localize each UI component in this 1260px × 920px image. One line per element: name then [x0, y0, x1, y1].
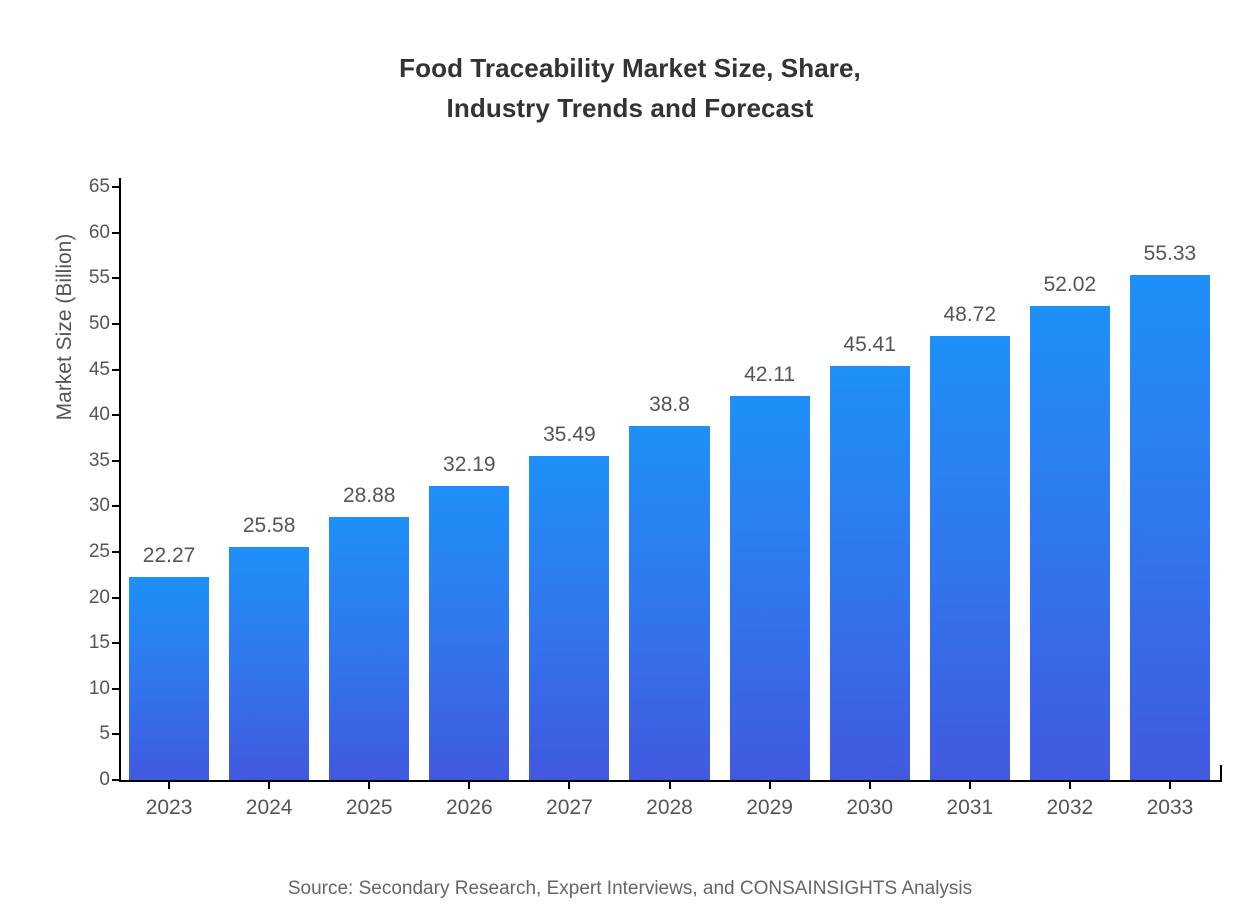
bar[interactable]: [529, 456, 609, 780]
y-axis-tick-label: 15: [50, 633, 110, 652]
bar-value-label: 48.72: [900, 303, 1040, 327]
y-axis-tick-label: 35: [50, 451, 110, 470]
y-axis-tick: [112, 323, 121, 325]
bar[interactable]: [129, 577, 209, 780]
y-axis-tick: [112, 232, 121, 234]
y-axis-tick-label: 30: [50, 496, 110, 515]
x-axis-tick: [969, 780, 971, 789]
chart-figure: Food Traceability Market Size, Share, In…: [0, 0, 1260, 920]
x-axis-tick-label: 2030: [815, 796, 925, 820]
bar-value-label: 32.19: [399, 453, 539, 477]
bar-value-label: 42.11: [700, 363, 840, 387]
y-axis-tick: [112, 186, 121, 188]
x-axis-tick-label: 2033: [1115, 796, 1225, 820]
x-axis-tick: [669, 780, 671, 789]
bar[interactable]: [629, 426, 709, 780]
x-axis-spine: [119, 780, 1222, 782]
bar-value-label: 38.8: [600, 393, 740, 417]
x-axis-tick: [869, 780, 871, 789]
y-axis-tick-label: 10: [50, 679, 110, 698]
x-axis-tick-label: 2025: [314, 796, 424, 820]
x-axis-tick: [769, 780, 771, 789]
bar-value-label: 22.27: [99, 544, 239, 568]
chart-title-line-2: Industry Trends and Forecast: [0, 88, 1260, 128]
bar-value-label: 45.41: [800, 333, 940, 357]
x-axis-tick-label: 2029: [715, 796, 825, 820]
y-axis-tick: [112, 642, 121, 644]
x-axis-tick: [1169, 780, 1171, 789]
x-axis-tick: [268, 780, 270, 789]
y-axis-tick-label: 5: [50, 724, 110, 743]
bar-value-label: 55.33: [1100, 242, 1240, 266]
y-axis-tick-label: 20: [50, 588, 110, 607]
bar-value-label: 25.58: [199, 514, 339, 538]
y-axis-tick-label: 55: [50, 268, 110, 287]
y-axis-tick: [112, 277, 121, 279]
x-axis-tick-label: 2031: [915, 796, 1025, 820]
bar[interactable]: [830, 366, 910, 780]
y-axis-tick: [112, 369, 121, 371]
y-axis-tick: [112, 505, 121, 507]
y-axis-tick: [112, 597, 121, 599]
y-axis-tick: [112, 414, 121, 416]
bar[interactable]: [930, 336, 1010, 780]
x-axis-tick-label: 2026: [414, 796, 524, 820]
x-axis-tick: [568, 780, 570, 789]
x-axis-tick-label: 2028: [615, 796, 725, 820]
source-note: Source: Secondary Research, Expert Inter…: [0, 878, 1260, 900]
x-axis-tick: [1069, 780, 1071, 789]
bar[interactable]: [730, 396, 810, 780]
bar[interactable]: [229, 547, 309, 780]
x-axis-tick: [368, 780, 370, 789]
x-axis-tick-label: 2023: [114, 796, 224, 820]
y-axis-tick-label: 60: [50, 223, 110, 242]
y-axis-tick: [112, 733, 121, 735]
plot-area: 0510152025303540455055606522.27202325.58…: [121, 178, 1222, 780]
y-axis-tick: [112, 779, 121, 781]
bar-value-label: 35.49: [499, 423, 639, 447]
y-axis-tick-label: 50: [50, 314, 110, 333]
y-axis-tick: [112, 688, 121, 690]
x-axis-tick: [468, 780, 470, 789]
bar[interactable]: [1130, 275, 1210, 780]
chart-title-line-1: Food Traceability Market Size, Share,: [0, 48, 1260, 88]
y-axis-tick-label: 0: [50, 770, 110, 789]
bar[interactable]: [429, 486, 509, 780]
x-axis-tick-label: 2032: [1015, 796, 1125, 820]
y-axis-tick-label: 65: [50, 177, 110, 196]
y-axis-tick: [112, 460, 121, 462]
x-axis-tick: [168, 780, 170, 789]
chart-title: Food Traceability Market Size, Share, In…: [0, 48, 1260, 128]
x-axis-tick-label: 2024: [214, 796, 324, 820]
x-axis-tick-label: 2027: [514, 796, 624, 820]
bar-value-label: 52.02: [1000, 273, 1140, 297]
bar[interactable]: [329, 517, 409, 780]
bar-value-label: 28.88: [299, 484, 439, 508]
bar[interactable]: [1030, 306, 1110, 780]
y-axis-tick-label: 45: [50, 360, 110, 379]
x-axis-right-cap: [1220, 765, 1222, 782]
y-axis-tick-label: 40: [50, 405, 110, 424]
